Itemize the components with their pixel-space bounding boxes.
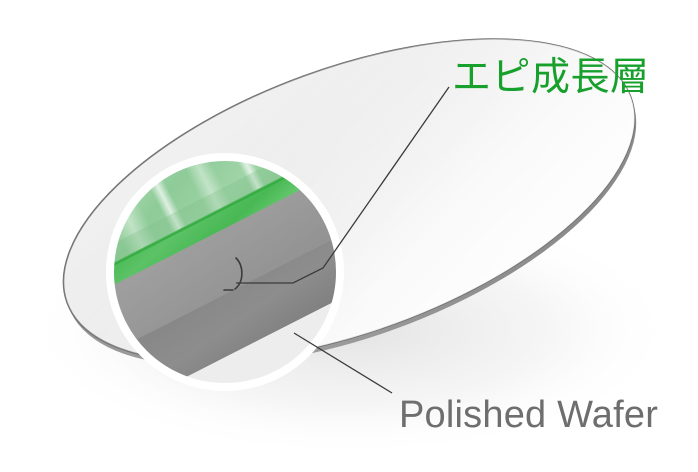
epi-layer-label: エピ成長層 bbox=[452, 58, 650, 97]
polished-wafer-label: Polished Wafer bbox=[399, 396, 658, 434]
diagram-canvas: エピ成長層 Polished Wafer bbox=[0, 0, 698, 472]
